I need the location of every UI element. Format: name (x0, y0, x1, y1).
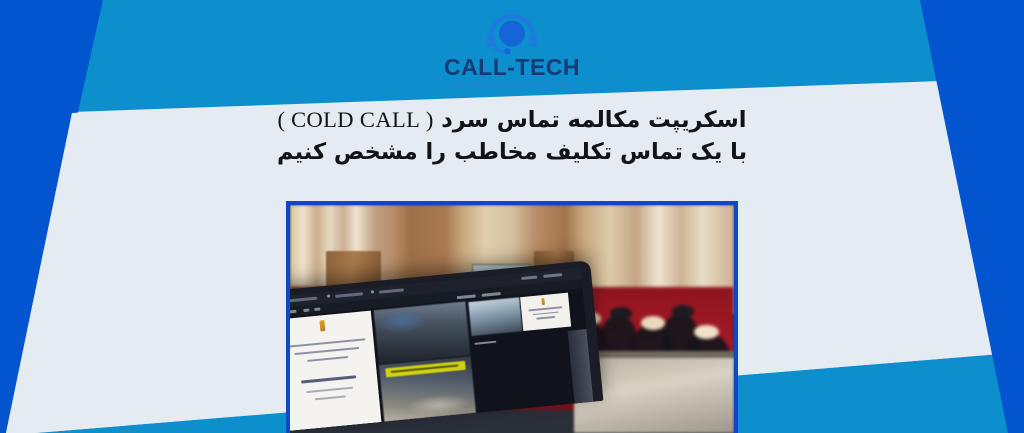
thumbnail-document (520, 292, 570, 330)
logo-wordmark: CALL-TECH (444, 56, 580, 79)
logo-block: CALL-TECH NEW CUSTOMER SERVICE SOLUTIONS (0, 10, 1024, 87)
thumbnail-office-floor (379, 356, 476, 422)
logo-tagline: NEW CUSTOMER SERVICE SOLUTIONS (451, 82, 573, 87)
title-line-1: اسکریپت مکالمه تماس سرد ( COLD CALL ) (0, 104, 1024, 136)
conference-hall-photo (286, 201, 738, 433)
title-line-1-latin: ( COLD CALL ) (278, 107, 434, 132)
title-line-2: با یک تماس تکلیف مخاطب را مشخص کنیم (0, 136, 1024, 168)
laptop-screen-edge (568, 329, 594, 404)
thumbnail-room (468, 297, 522, 336)
thumbnail-office-wide (374, 301, 470, 364)
page-title: اسکریپت مکالمه تماس سرد ( COLD CALL ) با… (0, 104, 1024, 168)
banner-canvas: CALL-TECH NEW CUSTOMER SERVICE SOLUTIONS… (0, 0, 1024, 433)
headset-icon (484, 10, 540, 54)
slide-document-panel (290, 310, 382, 432)
doc-bullet-marker (319, 320, 325, 331)
title-line-1-rtl: اسکریپت مکالمه تماس سرد (433, 107, 746, 133)
photo-content (290, 205, 734, 433)
